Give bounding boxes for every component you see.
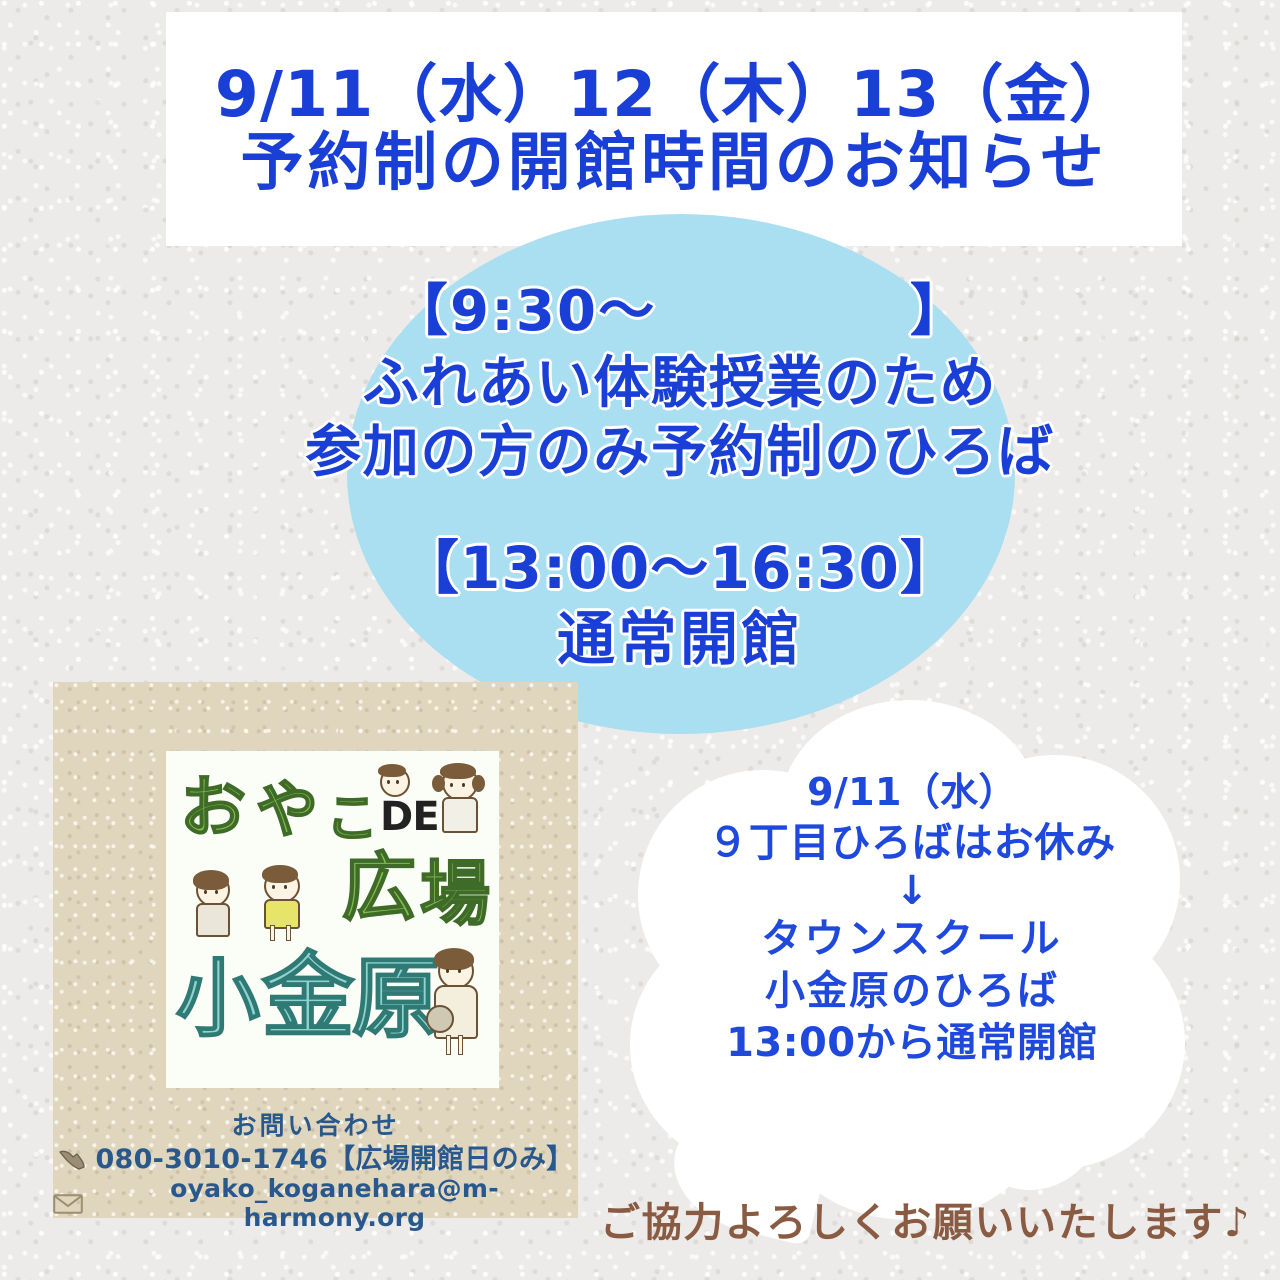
logo-char-ko: こ: [326, 793, 378, 845]
alt-place-line-2: 小金原のひろば: [642, 965, 1182, 1017]
contact-phone-row[interactable]: 080-3010-1746【広場開館日のみ】: [53, 1144, 578, 1175]
girl-figure-icon: [188, 873, 236, 941]
mother-figure-icon: [424, 949, 484, 1059]
logo-char-ba: 場: [420, 859, 490, 929]
header-dates: 9/11（水）12（木）13（金）: [215, 62, 1133, 128]
logo-char-o: お: [180, 775, 246, 841]
envelope-icon: [53, 1193, 83, 1215]
notice-date: 9/11（水）: [642, 768, 1182, 817]
notice-bubble-text: 9/11（水） ９丁目ひろばはお休み ↓ タウンスクール 小金原のひろば 13:…: [642, 768, 1182, 1069]
header-title: 予約制の開館時間のお知らせ: [241, 130, 1108, 196]
logo-char-ko-small: 小: [176, 957, 260, 1041]
morning-slot-open: 【9:30～: [392, 279, 657, 344]
poster-canvas: 9/11（水）12（木）13（金） 予約制の開館時間のお知らせ 【9:30～ 】…: [0, 0, 1280, 1280]
contact-phone-number: 080-3010-1746【広場開館日のみ】: [95, 1144, 573, 1175]
morning-slot-close: 】: [910, 279, 968, 344]
logo-char-kin: 金: [262, 951, 354, 1043]
afternoon-label: 通常開館: [250, 604, 1110, 675]
logo-char-hiro: 広: [342, 851, 416, 925]
contact-email-address: oyako_koganehara@m-harmony.org: [91, 1175, 578, 1233]
organization-logo: お や こ DE 広 場: [166, 751, 499, 1088]
baby-figure-icon: [380, 767, 412, 801]
reason-line-1: ふれあい体験授業のため: [250, 350, 1110, 418]
morning-slot-row: 【9:30～ 】: [250, 278, 1110, 346]
down-arrow-icon: ↓: [642, 869, 1182, 913]
contact-mail-row[interactable]: oyako_koganehara@m-harmony.org: [53, 1175, 578, 1233]
logo-card: お や こ DE 広 場: [53, 682, 578, 1218]
alt-place-line-1: タウンスクール: [642, 913, 1182, 965]
alt-open-time: 13:00から通常開館: [642, 1017, 1182, 1069]
boy-figure-icon: [252, 863, 308, 943]
afternoon-slot: 【13:00～16:30】: [250, 533, 1110, 604]
header-band: 9/11（水）12（木）13（金） 予約制の開館時間のお知らせ: [166, 12, 1182, 246]
logo-char-ya: や: [256, 779, 318, 841]
reason-line-2: 参加の方のみ予約制のひろば: [250, 419, 1110, 487]
contact-block: お問い合わせ 080-3010-1746【広場開館日のみ】 oyako_koga…: [53, 1106, 578, 1233]
pigtail-girl-figure-icon: [434, 765, 486, 839]
main-copy-block: 【9:30～ 】 ふれあい体験授業のため 参加の方のみ予約制のひろば 【13:0…: [250, 278, 1110, 674]
notice-closed-line: ９丁目ひろばはお休み: [642, 817, 1182, 869]
telephone-icon: [57, 1148, 87, 1172]
footer-message: ご協力よろしくお願いいたします♪: [600, 1190, 1280, 1248]
logo-de-mark: DE: [380, 797, 439, 837]
contact-label: お問い合わせ: [53, 1106, 578, 1142]
